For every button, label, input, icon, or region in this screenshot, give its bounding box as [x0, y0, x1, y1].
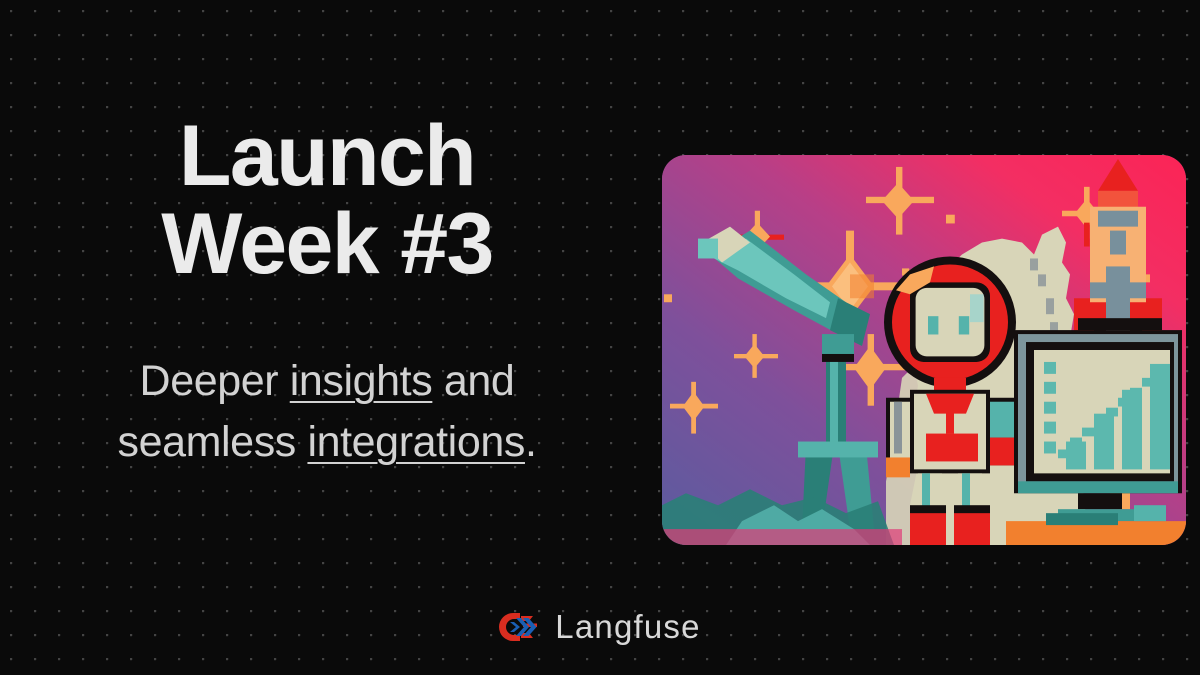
pixel-art-illustration [662, 155, 1186, 545]
brand-footer: Langfuse [0, 600, 1200, 654]
sparkle-dot [946, 215, 955, 224]
subtitle: Deeper insights and seamless integration… [47, 351, 607, 473]
chart-monitor [1014, 330, 1182, 521]
subtitle-emphasis-integrations: integrations [307, 418, 525, 466]
subtitle-part-3: . [525, 418, 537, 466]
copy-block: Launch Week #3 Deeper insights and seaml… [0, 0, 640, 585]
sparkle-dot [664, 294, 672, 302]
brand-wordmark: Langfuse [555, 608, 700, 646]
langfuse-logo-icon [499, 609, 541, 645]
subtitle-part-1: Deeper [140, 357, 290, 405]
hero-artwork [662, 155, 1186, 545]
launch-week-banner: Launch Week #3 Deeper insights and seaml… [0, 0, 1200, 675]
page-title: Launch Week #3 [161, 112, 492, 289]
subtitle-emphasis-insights: insights [290, 357, 433, 405]
